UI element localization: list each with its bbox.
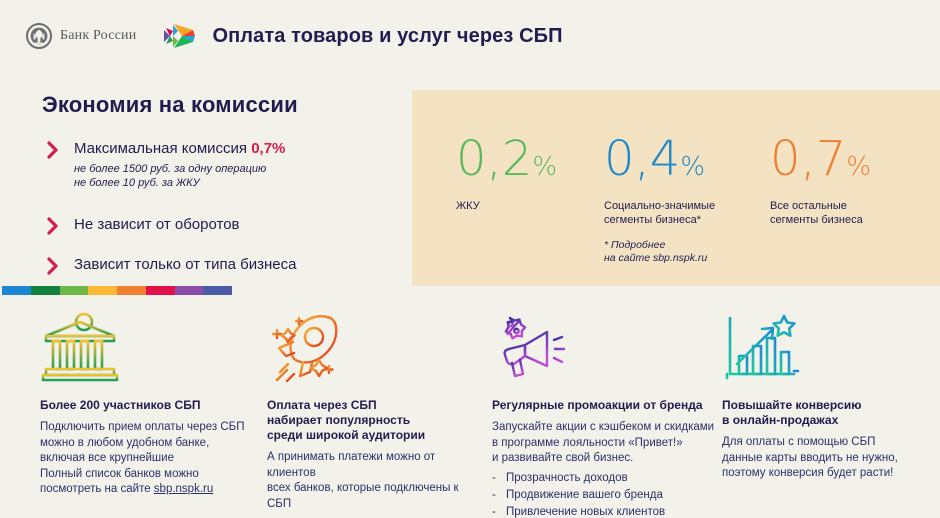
rate-caption-line: Все остальные bbox=[770, 199, 930, 213]
bank-of-russia-emblem-icon bbox=[26, 23, 52, 49]
card-body: А принимать платежи можно от клиентов вс… bbox=[267, 450, 479, 512]
dash-item-label: Привлечение новых клиентов bbox=[506, 504, 665, 518]
card-dash-list: -Прозрачность доходов -Продвижение вашег… bbox=[492, 470, 717, 518]
card-body-line: и развивайте свой бизнес. bbox=[492, 451, 717, 467]
card-body-line: Полный список банков можно bbox=[40, 467, 252, 483]
bullet-text: Зависит только от типа бизнеса bbox=[74, 256, 402, 274]
bullet-subtext-line: не более 10 руб. за ЖКУ bbox=[74, 176, 402, 190]
card-title: Регулярные промоакции от бренда bbox=[492, 398, 717, 413]
rate-item-social: 0,4% Социально-значимые сегменты бизнеса… bbox=[604, 136, 784, 265]
card-body-line: всех банков, которые подключены к СБП bbox=[267, 481, 479, 512]
savings-title: Экономия на комиссии bbox=[42, 92, 402, 118]
rate-value: 0,2% bbox=[456, 136, 606, 190]
card-body-line: Подключить прием оплаты через СБП bbox=[40, 420, 252, 436]
card-title-line: набирает популярность bbox=[267, 413, 479, 428]
benefit-card-conversion: Повышайте конверсию в онлайн-продажах Дл… bbox=[722, 312, 922, 482]
bullet-subtext: не более 1500 руб. за одну операцию не б… bbox=[74, 162, 402, 190]
percent-sign: % bbox=[532, 152, 557, 182]
card-title-line: Регулярные промоакции от бренда bbox=[492, 398, 717, 413]
card-title-line: Оплата через СБП bbox=[267, 398, 479, 413]
rate-value: 0,4% bbox=[604, 136, 784, 190]
dash-bullet-icon: - bbox=[492, 470, 506, 487]
card-body-line: А принимать платежи можно от клиентов bbox=[267, 450, 479, 481]
rate-item-zhku: 0,2% ЖКУ bbox=[456, 136, 606, 213]
benefit-card-participants: Более 200 участников СБП Подключить прие… bbox=[40, 312, 252, 498]
growth-chart-star-icon bbox=[722, 312, 922, 384]
rocket-icon bbox=[267, 312, 479, 384]
benefit-card-popularity: Оплата через СБП набирает популярность с… bbox=[267, 312, 479, 512]
page-header: Банк России Оплата товаров и услуг через… bbox=[0, 0, 940, 72]
card-title-line: Повышайте конверсию bbox=[722, 398, 922, 413]
sbp-logo bbox=[162, 20, 198, 52]
chevron-right-icon bbox=[46, 141, 60, 159]
card-body-line: посмотреть на сайте bbox=[40, 483, 154, 495]
top-section: Экономия на комиссии Максимальная комисс… bbox=[0, 72, 940, 284]
rate-item-other: 0,7% Все остальные сегменты бизнеса bbox=[770, 136, 930, 227]
savings-bullet-list: Максимальная комиссия 0,7% не более 1500… bbox=[42, 140, 402, 274]
rate-number: 0,7 bbox=[770, 131, 846, 187]
list-item: Зависит только от типа бизнеса bbox=[42, 256, 402, 274]
color-bar-segment bbox=[2, 286, 31, 295]
rates-panel: 0,2% ЖКУ 0,4% Социально-значимые сегмент… bbox=[412, 90, 940, 286]
savings-panel: Экономия на комиссии Максимальная комисс… bbox=[42, 92, 402, 284]
rate-value: 0,7% bbox=[770, 136, 930, 190]
rate-caption-line: сегменты бизнеса* bbox=[604, 213, 784, 227]
rate-footnote-line: на сайте sbp.nspk.ru bbox=[604, 252, 784, 265]
card-body-line: в программе лояльности «Привет!» bbox=[492, 436, 717, 452]
rate-caption: ЖКУ bbox=[456, 199, 606, 213]
color-bar-segment bbox=[88, 286, 117, 295]
megaphone-discount-icon bbox=[492, 312, 717, 384]
card-body: Подключить прием оплаты через СБП можно … bbox=[40, 420, 252, 498]
color-bar-segment bbox=[117, 286, 146, 295]
rate-caption-line: Социально-значимые bbox=[604, 199, 784, 213]
sbp-website-link[interactable]: sbp.nspk.ru bbox=[154, 483, 213, 495]
list-item: Не зависит от оборотов bbox=[42, 216, 402, 234]
bullet-text: Максимальная комиссия 0,7% bbox=[74, 140, 402, 158]
color-bar-divider bbox=[2, 286, 232, 295]
slide-root: Банк России Оплата товаров и услуг через… bbox=[0, 0, 940, 518]
card-body: Для оплаты с помощью СБП данные карты вв… bbox=[722, 435, 922, 482]
benefits-section: Более 200 участников СБП Подключить прие… bbox=[0, 312, 940, 518]
bullet-text: Не зависит от оборотов bbox=[74, 216, 402, 234]
card-title-line: среди широкой аудитории bbox=[267, 428, 479, 443]
rate-caption: Социально-значимые сегменты бизнеса* bbox=[604, 199, 784, 227]
percent-sign: % bbox=[680, 152, 705, 182]
card-body-line: данные карты вводить не нужно, bbox=[722, 451, 922, 467]
card-body-line: включая все крупнейшие bbox=[40, 451, 252, 467]
benefit-card-promotions: Регулярные промоакции от бренда Запускай… bbox=[492, 312, 717, 518]
max-fee-value: 0,7% bbox=[251, 140, 285, 157]
page-title: Оплата товаров и услуг через СБП bbox=[212, 25, 562, 48]
color-bar-segment bbox=[60, 286, 89, 295]
color-bar-segment bbox=[203, 286, 232, 295]
rate-caption: Все остальные сегменты бизнеса bbox=[770, 199, 930, 227]
card-title: Оплата через СБП набирает популярность с… bbox=[267, 398, 479, 443]
bank-of-russia-logo: Банк России bbox=[26, 23, 136, 49]
bank-building-icon bbox=[40, 312, 252, 384]
dash-bullet-icon: - bbox=[492, 487, 506, 504]
card-body: Запускайте акции с кэшбеком и скидками в… bbox=[492, 420, 717, 518]
chevron-right-icon bbox=[46, 257, 60, 275]
card-body-line: Запускайте акции с кэшбеком и скидками bbox=[492, 420, 717, 436]
bullet-subtext-line: не более 1500 руб. за одну операцию bbox=[74, 162, 402, 176]
chevron-right-icon bbox=[46, 217, 60, 235]
dash-item-label: Прозрачность доходов bbox=[506, 470, 628, 487]
card-title-line: Более 200 участников СБП bbox=[40, 398, 252, 413]
list-item: Максимальная комиссия 0,7% не более 1500… bbox=[42, 140, 402, 190]
card-title: Более 200 участников СБП bbox=[40, 398, 252, 413]
rate-number: 0,4 bbox=[604, 131, 680, 187]
bank-of-russia-name: Банк России bbox=[60, 28, 136, 44]
color-bar-segment bbox=[175, 286, 204, 295]
dash-item-label: Продвижение вашего бренда bbox=[506, 487, 663, 504]
color-bar-segment bbox=[146, 286, 175, 295]
card-body-line-with-link: посмотреть на сайте sbp.nspk.ru bbox=[40, 482, 252, 498]
card-title: Повышайте конверсию в онлайн-продажах bbox=[722, 398, 922, 428]
dash-bullet-icon: - bbox=[492, 504, 506, 518]
list-item: -Прозрачность доходов bbox=[492, 470, 717, 487]
rate-footnote: * Подробнее на сайте sbp.nspk.ru bbox=[604, 239, 784, 265]
list-item: -Продвижение вашего бренда bbox=[492, 487, 717, 504]
rate-footnote-line: * Подробнее bbox=[604, 239, 784, 252]
card-body-line: можно в любом удобном банке, bbox=[40, 436, 252, 452]
rate-number: 0,2 bbox=[456, 131, 532, 187]
card-title-line: в онлайн-продажах bbox=[722, 413, 922, 428]
bullet-text-label: Максимальная комиссия bbox=[74, 140, 251, 157]
rate-caption-line: сегменты бизнеса bbox=[770, 213, 930, 227]
card-body-line: Для оплаты с помощью СБП bbox=[722, 435, 922, 451]
rate-caption-line: ЖКУ bbox=[456, 199, 606, 213]
color-bar-segment bbox=[31, 286, 60, 295]
percent-sign: % bbox=[846, 152, 871, 182]
card-body-line: поэтому конверсия будет расти! bbox=[722, 466, 922, 482]
list-item: -Привлечение новых клиентов bbox=[492, 504, 717, 518]
